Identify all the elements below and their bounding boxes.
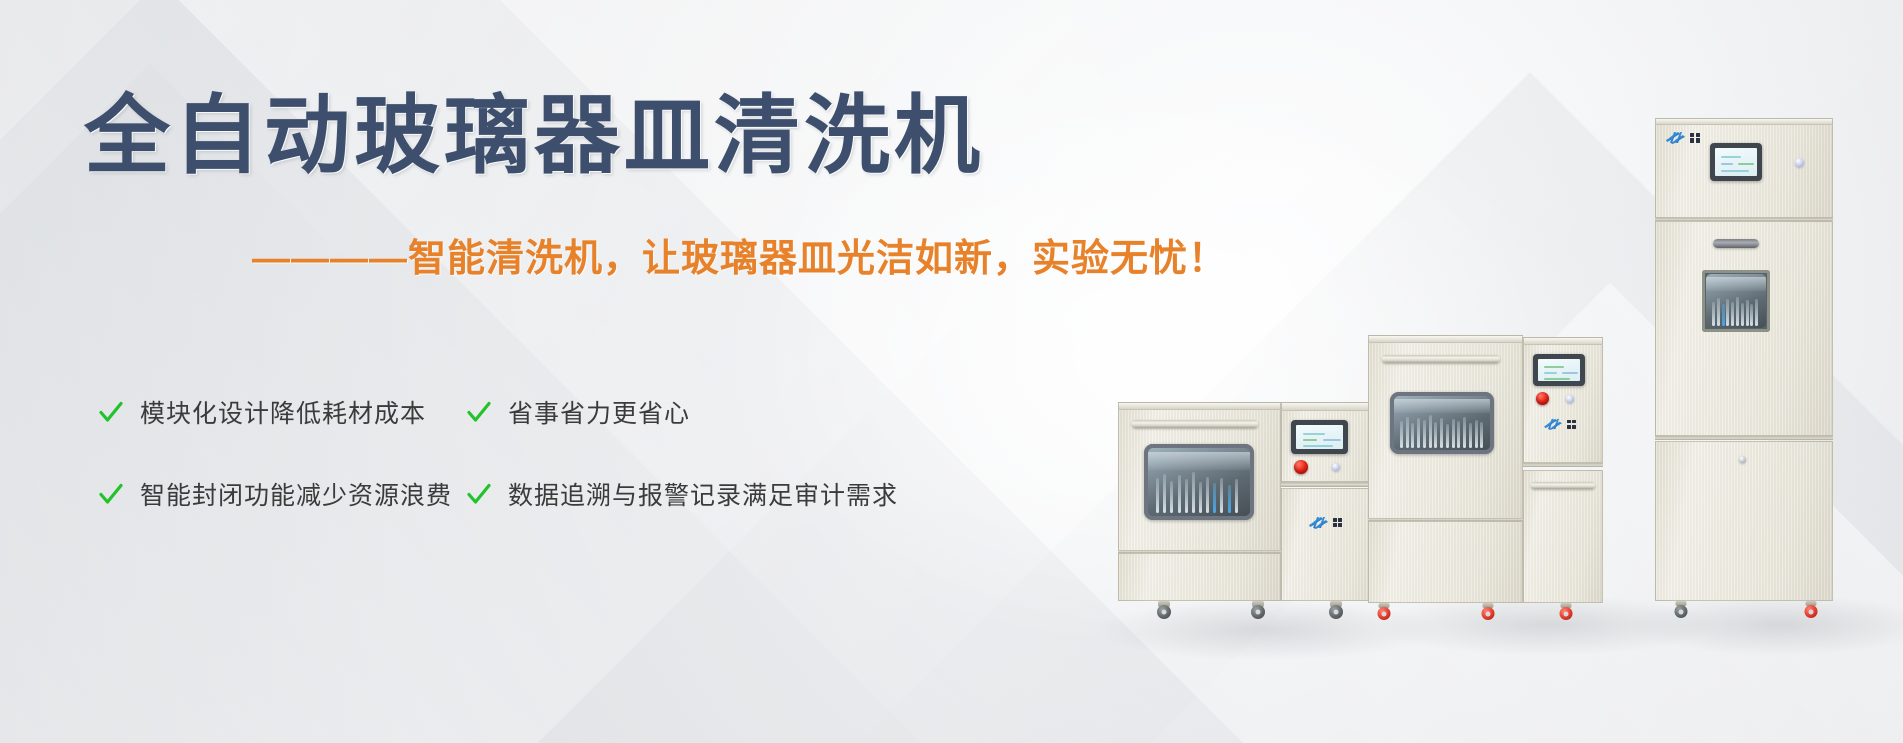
control-top-cap <box>1281 402 1378 411</box>
glassware-rack <box>1148 448 1250 516</box>
check-icon <box>98 399 124 425</box>
caster-wheel <box>1558 603 1574 621</box>
emergency-stop-button[interactable] <box>1294 460 1308 474</box>
brushed-texture <box>1524 345 1602 462</box>
base-cabinet-panel <box>1655 441 1833 601</box>
caster-wheel <box>1480 603 1496 621</box>
check-icon <box>466 399 492 425</box>
glass-reflection <box>1394 399 1490 413</box>
panel-seam <box>1655 218 1833 221</box>
washer-door-panel <box>1368 340 1523 520</box>
control-panel <box>1523 344 1603 463</box>
list-item: 模块化设计降低耗材成本 <box>98 382 466 442</box>
latch-knob[interactable] <box>1739 456 1746 463</box>
glassware-rack <box>1394 396 1490 450</box>
caster-wheel <box>1673 601 1689 619</box>
panel-seam <box>1655 436 1833 440</box>
glass-reflection <box>1148 452 1250 470</box>
indicator-button[interactable] <box>1566 395 1574 403</box>
product-undercounter-washer <box>1118 398 1378 613</box>
logo-h-mark <box>1665 131 1687 144</box>
brushed-texture <box>1656 222 1832 435</box>
washer-top-cap <box>1655 118 1833 125</box>
brushed-texture <box>1282 411 1377 481</box>
check-icon <box>466 481 492 507</box>
check-icon <box>98 481 124 507</box>
chamber-door-panel <box>1655 221 1833 436</box>
feature-label: 模块化设计降低耗材成本 <box>140 394 426 430</box>
banner-copy: 全自动玻璃器皿清洗机 ————智能清洗机，让玻璃器皿光洁如新，实验无忧！ 模块化… <box>0 0 1150 743</box>
indicator-button[interactable] <box>1795 158 1804 167</box>
product-banner: 全自动玻璃器皿清洗机 ————智能清洗机，让玻璃器皿光洁如新，实验无忧！ 模块化… <box>0 0 1903 743</box>
product-tall-column-washer <box>1655 115 1840 615</box>
control-panel <box>1281 410 1378 482</box>
caster-wheel <box>1376 603 1392 621</box>
page-title: 全自动玻璃器皿清洗机 <box>84 93 984 179</box>
viewing-window <box>1144 444 1254 520</box>
window-glass <box>1706 274 1766 328</box>
list-item: 省事省力更省心 <box>466 382 886 442</box>
facet-shape <box>1073 283 1903 743</box>
panel-seam <box>1281 482 1378 487</box>
logo-h-mark <box>1543 418 1564 430</box>
control-top-cap <box>1523 337 1603 345</box>
brushed-texture <box>1282 489 1377 600</box>
panel-seam <box>1523 463 1603 467</box>
brushed-texture <box>1524 471 1602 602</box>
door-handle <box>1713 239 1759 248</box>
touchscreen-display[interactable] <box>1533 354 1585 386</box>
company-logo <box>1665 131 1700 144</box>
product-freestanding-washer <box>1368 330 1608 615</box>
emergency-stop-button[interactable] <box>1536 392 1549 405</box>
control-cabinet <box>1281 488 1378 601</box>
product-shadow <box>1630 595 1903 655</box>
company-logo <box>1308 516 1342 529</box>
indicator-button[interactable] <box>1332 463 1340 471</box>
feature-label: 数据追溯与报警记录满足审计需求 <box>508 476 898 512</box>
logo-dots <box>1690 133 1700 143</box>
door-handle <box>1382 355 1500 363</box>
feature-label: 省事省力更省心 <box>508 394 690 430</box>
viewing-window <box>1390 392 1494 454</box>
window-glass <box>1394 396 1490 450</box>
upper-control-section <box>1655 123 1833 218</box>
glass-reflection <box>1706 277 1766 291</box>
door-handle <box>1132 420 1258 428</box>
washer-top-cap <box>1368 335 1523 343</box>
caster-wheel <box>1156 601 1172 619</box>
list-item: 数据追溯与报警记录满足审计需求 <box>466 464 886 524</box>
brushed-texture <box>1369 522 1522 602</box>
panel-seam <box>1368 518 1523 521</box>
logo-h-mark <box>1308 516 1330 529</box>
touchscreen-display[interactable] <box>1291 420 1348 454</box>
caster-wheel <box>1803 601 1819 619</box>
list-item: 智能封闭功能减少资源浪费 <box>98 464 466 524</box>
screen-content <box>1538 359 1580 381</box>
brushed-texture <box>1656 442 1832 600</box>
company-logo <box>1543 418 1576 430</box>
feature-list: 模块化设计降低耗材成本 省事省力更省心 智能封闭功能减少资源浪费 <box>98 382 978 524</box>
window-glass <box>1148 448 1250 516</box>
caster-wheel <box>1328 601 1344 619</box>
screen-content <box>1296 425 1343 449</box>
viewing-window <box>1702 270 1770 332</box>
touchscreen-display[interactable] <box>1710 143 1762 181</box>
brushed-texture <box>1656 124 1832 217</box>
product-shadow <box>1375 595 1715 655</box>
screen-content <box>1715 148 1757 176</box>
lower-drawer-panel <box>1368 521 1523 603</box>
cabinet-handle <box>1531 482 1595 489</box>
logo-dots <box>1567 420 1576 429</box>
caster-wheel <box>1250 601 1266 619</box>
service-cabinet <box>1523 470 1603 603</box>
banner-subtitle: ————智能清洗机，让玻璃器皿光洁如新，实验无忧！ <box>252 240 1227 278</box>
glassware-rack <box>1706 274 1766 328</box>
brushed-texture <box>1369 341 1522 519</box>
logo-dots <box>1333 518 1342 527</box>
feature-label: 智能封闭功能减少资源浪费 <box>140 476 452 512</box>
